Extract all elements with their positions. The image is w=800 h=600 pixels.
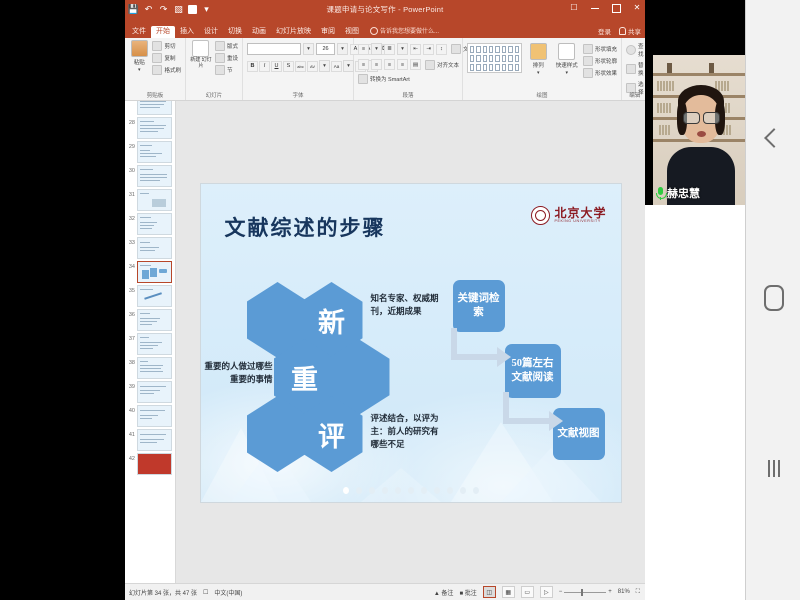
video-panel[interactable]: 赫忠慧: [645, 0, 755, 205]
screen: 💾 ↶ ↷ ▧ ▾ 课题申请与论文写作 - PowerPoint ☐ ✕ 文件 …: [0, 0, 800, 600]
thumbnail-number: 31: [127, 189, 135, 199]
underline-button[interactable]: U: [271, 61, 282, 72]
reset-icon: [215, 53, 225, 63]
thumbnail-preview[interactable]: [137, 405, 172, 427]
section-icon: [215, 65, 225, 75]
ribbon-group-clipboard: 粘贴 ▾ 剪切 复制 格式刷 剪贴板: [125, 38, 186, 100]
close-button[interactable]: ✕: [632, 3, 642, 13]
comments-label: 批注: [465, 591, 477, 597]
ribbon: 粘贴 ▾ 剪切 复制 格式刷 剪贴板 新建 幻灯片: [125, 38, 645, 101]
thumbnail-preview[interactable]: [137, 357, 172, 379]
change-case-button[interactable]: Aa: [331, 61, 342, 72]
section-label: 节: [227, 66, 233, 74]
copy-label: 复制: [164, 54, 175, 62]
view-slide-sorter-button[interactable]: ▦: [502, 586, 515, 598]
thumbnail-number: 32: [127, 213, 135, 223]
left-black-gutter: [0, 0, 125, 600]
find-label: 查找: [638, 42, 644, 58]
notes-button[interactable]: ▲ 备注: [434, 588, 454, 597]
thumbnail-item[interactable]: 30: [125, 163, 175, 187]
arrow-read-to-view: [501, 388, 571, 448]
text-shadow-button[interactable]: S: [283, 61, 294, 72]
thumbnail-number: 35: [127, 285, 135, 295]
arrange-label: 排列: [533, 61, 544, 69]
thumbnail-item[interactable]: 31: [125, 187, 175, 211]
shape-outline-button[interactable]: 形状轮廓: [583, 56, 617, 66]
layout-icon: [215, 41, 225, 51]
replace-icon: [626, 64, 636, 74]
italic-button[interactable]: I: [259, 61, 270, 72]
tell-me-label: 告诉我您想要做什么...: [380, 26, 439, 35]
progress-dot[interactable]: [343, 487, 349, 494]
paste-label: 粘贴: [134, 58, 145, 66]
thumbnail-preview[interactable]: [137, 117, 172, 139]
progress-dot[interactable]: [434, 487, 440, 494]
convert-smartart-label: 转换为 SmartArt: [370, 75, 410, 83]
reset-button[interactable]: 重设: [215, 53, 238, 63]
shape-effects-label: 形状效果: [595, 69, 617, 77]
ribbon-tab-strip[interactable]: 文件 开始 插入 设计 切换 动画 幻灯片放映 审阅 视图 告诉我您想要做什么.…: [125, 20, 645, 38]
numbering-caret-icon[interactable]: ▾: [397, 43, 408, 55]
thumbnail-number: 39: [127, 381, 135, 391]
ribbon-group-slides: 新建 幻灯片 版式 重设 节 幻灯片: [186, 38, 243, 100]
zoom-out-button[interactable]: −: [559, 589, 563, 595]
copy-button[interactable]: 复制: [152, 53, 181, 63]
reset-label: 重设: [227, 54, 238, 62]
thumbnail-item[interactable]: 28: [125, 115, 175, 139]
paintbrush-icon: [152, 65, 162, 75]
notes-label: 备注: [441, 591, 453, 597]
replace-button[interactable]: 替换: [626, 61, 644, 77]
quick-styles-icon: [558, 43, 575, 60]
thumbnail-number: 37: [127, 333, 135, 343]
tell-me-box[interactable]: 告诉我您想要做什么...: [370, 26, 439, 38]
replace-label: 替换: [638, 61, 644, 77]
thumbnail-item-selected[interactable]: 34: [125, 259, 175, 283]
restore-button[interactable]: [611, 3, 621, 13]
thumbnail-number: 27: [127, 101, 135, 103]
character-spacing-button[interactable]: AV: [307, 61, 318, 72]
thumbnail-number: 29: [127, 141, 135, 151]
share-button[interactable]: 共享: [619, 26, 641, 36]
thumbnail-item[interactable]: 33: [125, 235, 175, 259]
tab-transitions[interactable]: 切换: [223, 26, 247, 38]
language-label[interactable]: 中文(中国): [214, 588, 242, 597]
shape-outline-label: 形状轮廓: [595, 57, 617, 65]
participant-name: 赫忠慧: [667, 185, 700, 201]
new-slide-icon: [192, 40, 209, 57]
thumbnail-item[interactable]: 39: [125, 379, 175, 403]
progress-dot[interactable]: [447, 487, 453, 494]
paste-icon: [131, 40, 148, 57]
character-spacing-caret-icon[interactable]: ▾: [319, 60, 330, 72]
slide-thumbnail-panel[interactable]: 27 28 29 30 31: [125, 101, 176, 585]
convert-smartart-button[interactable]: 转换为 SmartArt: [358, 74, 410, 84]
minimize-button[interactable]: [590, 3, 600, 13]
slide-editing-pane[interactable]: 文献综述的步骤 北京大学 PEKING UNIVERSITY 新 重: [176, 101, 645, 585]
arrange-caret-icon[interactable]: ▾: [537, 70, 540, 76]
thumbnail-preview[interactable]: [137, 261, 172, 283]
thumbnail-item[interactable]: 27: [125, 101, 175, 115]
group-label-clipboard: 剪贴板: [125, 91, 185, 99]
participant-name-bar: 赫忠慧: [656, 185, 700, 201]
thumbnail-item[interactable]: 36: [125, 307, 175, 331]
tab-file[interactable]: 文件: [127, 26, 151, 38]
group-label-editing: 编辑: [622, 91, 645, 99]
shapes-gallery[interactable]: [467, 43, 522, 73]
fit-to-window-icon[interactable]: ⛶: [636, 589, 640, 596]
progress-dot[interactable]: [421, 487, 427, 494]
right-lower-panel: [645, 205, 745, 600]
thumbnail-number: 41: [127, 429, 135, 439]
quick-styles-caret-icon[interactable]: ▾: [565, 70, 568, 76]
arrow-search-to-read: [449, 324, 519, 384]
view-reading-button[interactable]: ▭: [521, 586, 534, 598]
pku-logo-cn: 北京大学: [554, 207, 606, 219]
columns-button[interactable]: ▤: [410, 59, 421, 70]
bullets-button[interactable]: ≡: [358, 44, 369, 55]
progress-dot[interactable]: [460, 487, 466, 494]
slide-canvas[interactable]: 文献综述的步骤 北京大学 PEKING UNIVERSITY 新 重: [200, 183, 622, 503]
mouth: [697, 131, 706, 137]
thumbnail-item[interactable]: 42: [125, 451, 175, 475]
slide-title[interactable]: 文献综述的步骤: [225, 212, 386, 242]
group-label-drawing: 绘图: [463, 91, 621, 99]
ribbon-group-editing: 查找 替换 选择 编辑: [622, 38, 645, 100]
note-xin[interactable]: 知名专家、权威期刊，近期成果: [371, 292, 443, 318]
note-ping[interactable]: 评述结合，以评为主：前人的研究有哪些不足: [371, 412, 443, 450]
arrange-icon: [530, 43, 547, 60]
copy-icon: [152, 53, 162, 63]
note-zhong[interactable]: 重要的人做过哪些重要的事情: [203, 360, 273, 386]
shape-fill-icon: [583, 44, 593, 54]
slide-count-label: 幻灯片第 34 张，共 47 张: [129, 588, 197, 597]
font-family-caret-icon[interactable]: ▾: [303, 43, 314, 55]
slide-progress-dots[interactable]: [201, 487, 621, 494]
text-direction-icon: [451, 44, 461, 54]
align-right-button[interactable]: ≡: [384, 59, 395, 70]
layout-button[interactable]: 版式: [215, 41, 238, 51]
tab-home[interactable]: 开始: [151, 26, 175, 38]
shape-effects-icon: [583, 68, 593, 78]
quick-styles-button[interactable]: 快速样式 ▾: [554, 43, 579, 76]
thumbnail-preview[interactable]: [137, 381, 172, 403]
thumbnail-item[interactable]: 38: [125, 355, 175, 379]
view-slideshow-button[interactable]: ▷: [540, 586, 553, 598]
thumbnail-number: 36: [127, 309, 135, 319]
thumbnail-preview[interactable]: [137, 101, 172, 115]
section-button[interactable]: 节: [215, 65, 238, 75]
thumbnail-preview[interactable]: [137, 453, 172, 475]
glasses-right: [703, 112, 720, 124]
arrange-button[interactable]: 排列 ▾: [526, 43, 551, 76]
microphone-icon[interactable]: [656, 187, 665, 200]
shape-fill-label: 形状填充: [595, 45, 617, 53]
home-icon[interactable]: [746, 285, 800, 311]
titlebar-actions[interactable]: 登录 共享: [598, 26, 641, 36]
recents-icon[interactable]: [746, 455, 800, 481]
change-case-caret-icon[interactable]: ▾: [343, 60, 354, 72]
thumbnail-preview[interactable]: [137, 141, 172, 163]
share-label: 共享: [628, 26, 641, 36]
shape-outline-icon: [583, 56, 593, 66]
thumbnail-number: 33: [127, 237, 135, 247]
progress-dot[interactable]: [473, 487, 479, 494]
thumbnail-item[interactable]: 29: [125, 139, 175, 163]
paste-button[interactable]: 粘贴 ▾: [129, 40, 149, 73]
tab-review[interactable]: 审阅: [316, 26, 340, 38]
window-controls[interactable]: ☐ ✕: [569, 3, 642, 13]
thumbnail-item[interactable]: 37: [125, 331, 175, 355]
bold-button[interactable]: B: [247, 61, 258, 72]
thumbnail-number: 42: [127, 453, 135, 463]
person-icon: [619, 27, 626, 35]
progress-dot[interactable]: [408, 487, 414, 494]
ribbon-group-font: ▾ 26 ▾ A A ⌫ B I U S abc AV ▾: [243, 38, 354, 100]
glasses-left: [683, 112, 700, 124]
decrease-indent-button[interactable]: ⇤: [410, 44, 421, 55]
signin-button[interactable]: 登录: [598, 26, 611, 36]
progress-dot[interactable]: [356, 487, 362, 494]
cut-button[interactable]: 剪切: [152, 41, 181, 51]
increase-indent-button[interactable]: ⇥: [423, 44, 434, 55]
group-label-paragraph: 段落: [354, 91, 462, 99]
powerpoint-window: 💾 ↶ ↷ ▧ ▾ 课题申请与论文写作 - PowerPoint ☐ ✕ 文件 …: [125, 0, 645, 600]
zoom-slider[interactable]: − +: [559, 589, 612, 595]
numbering-button[interactable]: ≣: [384, 44, 395, 55]
bullets-caret-icon[interactable]: ▾: [371, 43, 382, 55]
window-title: 课题申请与论文写作 - PowerPoint: [125, 4, 645, 15]
format-painter-label: 格式刷: [164, 66, 181, 74]
thumbnail-preview[interactable]: [137, 309, 172, 331]
align-text-label: 对齐文本: [437, 61, 459, 69]
thumbnail-number: 38: [127, 357, 135, 367]
zoom-level-label[interactable]: 81%: [618, 589, 630, 595]
justify-button[interactable]: ≡: [397, 59, 408, 70]
thumbnail-preview[interactable]: [137, 429, 172, 451]
paste-caret-icon[interactable]: ▾: [138, 67, 141, 73]
thumbnail-preview[interactable]: [137, 285, 172, 307]
thumbnail-item[interactable]: 32: [125, 211, 175, 235]
font-family-input[interactable]: [247, 43, 301, 55]
pku-seal-icon: [531, 206, 550, 225]
new-slide-button[interactable]: 新建 幻灯片: [190, 40, 212, 69]
thumbnail-number: 28: [127, 117, 135, 127]
title-bar: 💾 ↶ ↷ ▧ ▾ 课题申请与论文写作 - PowerPoint ☐ ✕: [125, 0, 645, 20]
android-nav-bar[interactable]: [745, 0, 800, 600]
tab-slideshow[interactable]: 幻灯片放映: [271, 26, 316, 38]
tab-view[interactable]: 视图: [340, 26, 364, 38]
new-slide-label: 新建 幻灯片: [190, 58, 212, 69]
layout-label: 版式: [227, 42, 238, 50]
shape-fill-button[interactable]: 形状填充: [583, 44, 617, 54]
group-label-font: 字体: [243, 91, 353, 99]
scissors-icon: [152, 41, 162, 51]
ribbon-group-drawing: 排列 ▾ 快速样式 ▾ 形状填充 形状轮廓 形状效果 绘图: [463, 38, 622, 100]
cut-label: 剪切: [164, 42, 175, 50]
work-area: 27 28 29 30 31: [125, 101, 645, 585]
thumbnail-preview[interactable]: [137, 333, 172, 355]
thumbnail-item[interactable]: 35: [125, 283, 175, 307]
accessibility-icon[interactable]: ☐: [203, 589, 208, 596]
smartart-icon: [358, 74, 368, 84]
magnifier-icon: [626, 45, 636, 55]
format-painter-button[interactable]: 格式刷: [152, 65, 181, 75]
progress-dot[interactable]: [382, 487, 388, 494]
font-size-caret-icon[interactable]: ▾: [337, 43, 348, 55]
back-icon[interactable]: [746, 125, 800, 151]
thumbnail-number: 40: [127, 405, 135, 415]
find-button[interactable]: 查找: [626, 42, 644, 58]
align-text-icon: [425, 60, 435, 70]
view-normal-button[interactable]: ◫: [483, 586, 496, 598]
status-bar: 幻灯片第 34 张，共 47 张 ☐ 中文(中国) ▲ 备注 ■ 批注 ◫ ▦ …: [125, 583, 645, 600]
align-text-button[interactable]: 对齐文本: [425, 60, 459, 70]
thumbnail-number: 30: [127, 165, 135, 175]
comments-button[interactable]: ■ 批注: [459, 588, 476, 597]
lightbulb-icon: [370, 27, 378, 35]
thumbnail-preview[interactable]: [137, 213, 172, 235]
group-label-slides: 幻灯片: [186, 91, 242, 99]
strikethrough-button[interactable]: abc: [295, 61, 306, 72]
thumbnail-item[interactable]: 40: [125, 403, 175, 427]
align-left-button[interactable]: ≡: [358, 59, 369, 70]
zoom-track[interactable]: [564, 592, 606, 593]
thumbnail-preview[interactable]: [137, 165, 172, 187]
ribbon-group-paragraph: ≡ ▾ ≣ ▾ ⇤ ⇥ ↕ 文字方向 ≡ ≡ ≡ ≡ ▤: [354, 38, 463, 100]
progress-dot[interactable]: [369, 487, 375, 494]
pku-logo: 北京大学 PEKING UNIVERSITY: [531, 206, 606, 225]
shape-effects-button[interactable]: 形状效果: [583, 68, 617, 78]
video-feed[interactable]: 赫忠慧: [653, 55, 747, 205]
ribbon-display-options-icon[interactable]: ☐: [569, 3, 579, 13]
zoom-knob[interactable]: [581, 589, 583, 596]
quick-styles-label: 快速样式: [556, 61, 578, 69]
pku-logo-en: PEKING UNIVERSITY: [554, 220, 606, 224]
thumbnail-preview[interactable]: [137, 189, 172, 211]
tab-animations[interactable]: 动画: [247, 26, 271, 38]
tab-insert[interactable]: 插入: [175, 26, 199, 38]
thumbnail-number: 34: [127, 261, 135, 271]
zoom-in-button[interactable]: +: [608, 589, 612, 595]
font-size-input[interactable]: 26: [316, 43, 335, 55]
align-center-button[interactable]: ≡: [371, 59, 382, 70]
line-spacing-button[interactable]: ↕: [436, 44, 447, 55]
progress-dot[interactable]: [395, 487, 401, 494]
thumbnail-preview[interactable]: [137, 237, 172, 259]
thumbnail-item[interactable]: 41: [125, 427, 175, 451]
tab-design[interactable]: 设计: [199, 26, 223, 38]
